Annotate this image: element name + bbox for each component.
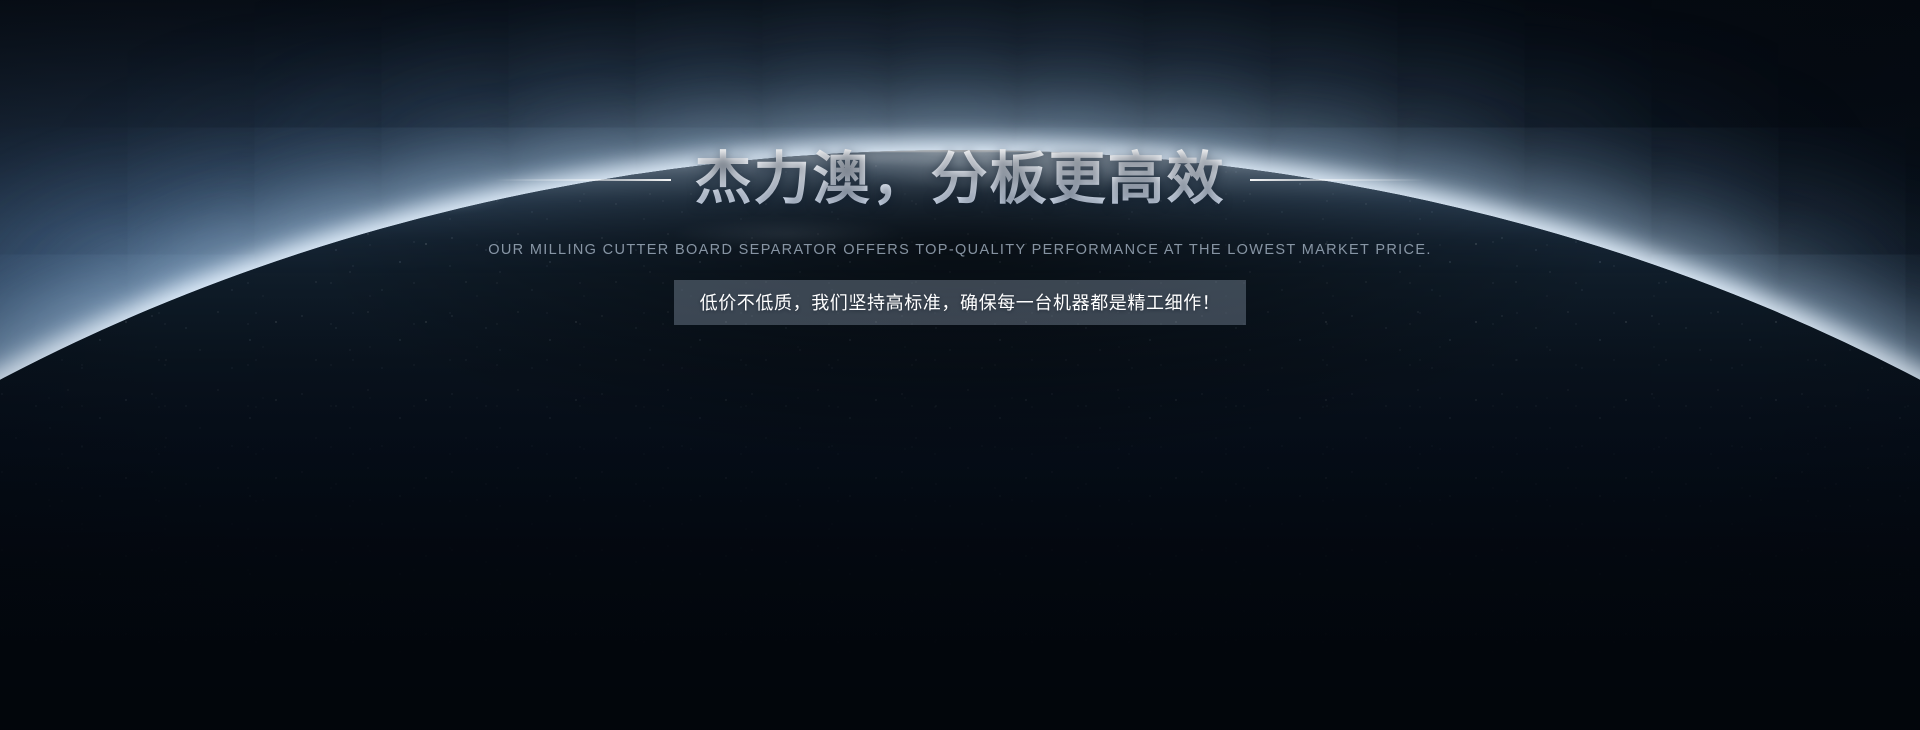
hero-banner: INNOVATION 杰力澳，分板更高效 OUR MILLING CUTTER … xyxy=(0,0,1920,730)
title-rule-right-decoration xyxy=(1250,179,1426,181)
page-title: 杰力澳，分板更高效 xyxy=(695,148,1226,212)
title-rule-left-decoration xyxy=(495,179,671,181)
tagline-container: 低价不低质，我们坚持高标准，确保每一台机器都是精工细作！ xyxy=(0,280,1920,325)
banner-content: 杰力澳，分板更高效 OUR MILLING CUTTER BOARD SEPAR… xyxy=(0,0,1920,325)
english-subtitle: OUR MILLING CUTTER BOARD SEPARATOR OFFER… xyxy=(0,242,1920,258)
title-row: 杰力澳，分板更高效 xyxy=(0,148,1920,212)
tagline-banner-bar: 低价不低质，我们坚持高标准，确保每一台机器都是精工细作！ xyxy=(674,280,1246,325)
